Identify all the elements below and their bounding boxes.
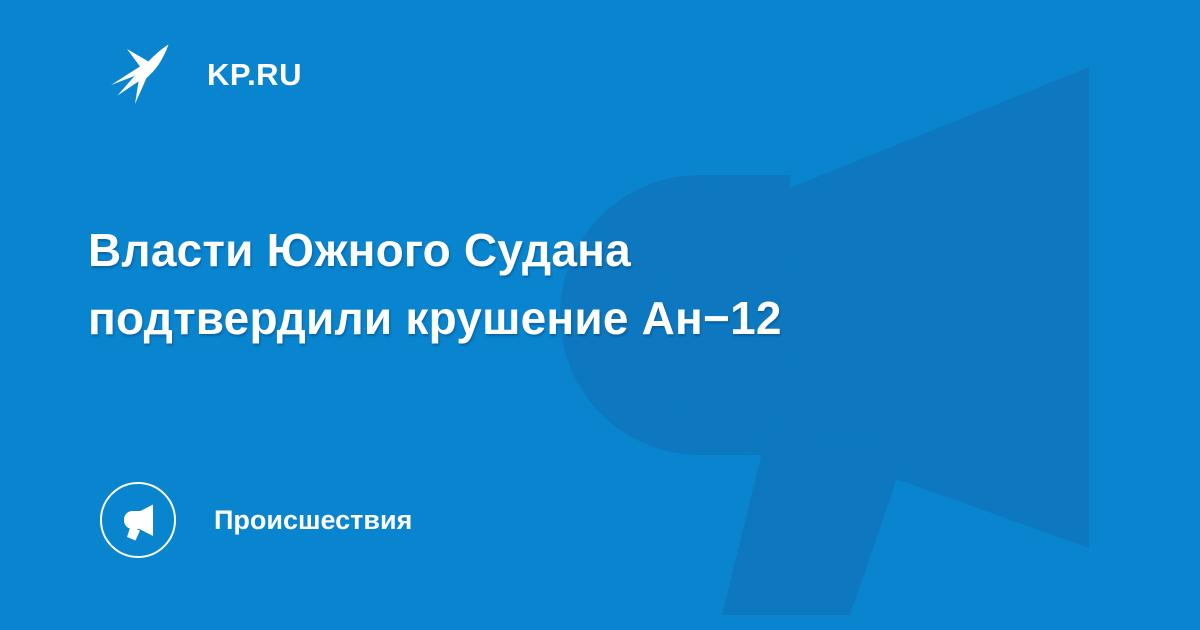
page-title: Власти Южного Судана подтвердили крушени… bbox=[88, 216, 1098, 352]
category-badge[interactable]: Происшествия bbox=[99, 481, 412, 559]
brand-name: KP.RU bbox=[207, 59, 302, 90]
swallow-bird-icon bbox=[105, 37, 179, 111]
category-icon-circle bbox=[99, 481, 177, 559]
category-label: Происшествия bbox=[214, 507, 412, 534]
share-card: KP.RU Власти Южного Судана подтвердили к… bbox=[0, 0, 1200, 630]
megaphone-icon bbox=[99, 481, 177, 559]
brand-header[interactable]: KP.RU bbox=[105, 37, 302, 111]
